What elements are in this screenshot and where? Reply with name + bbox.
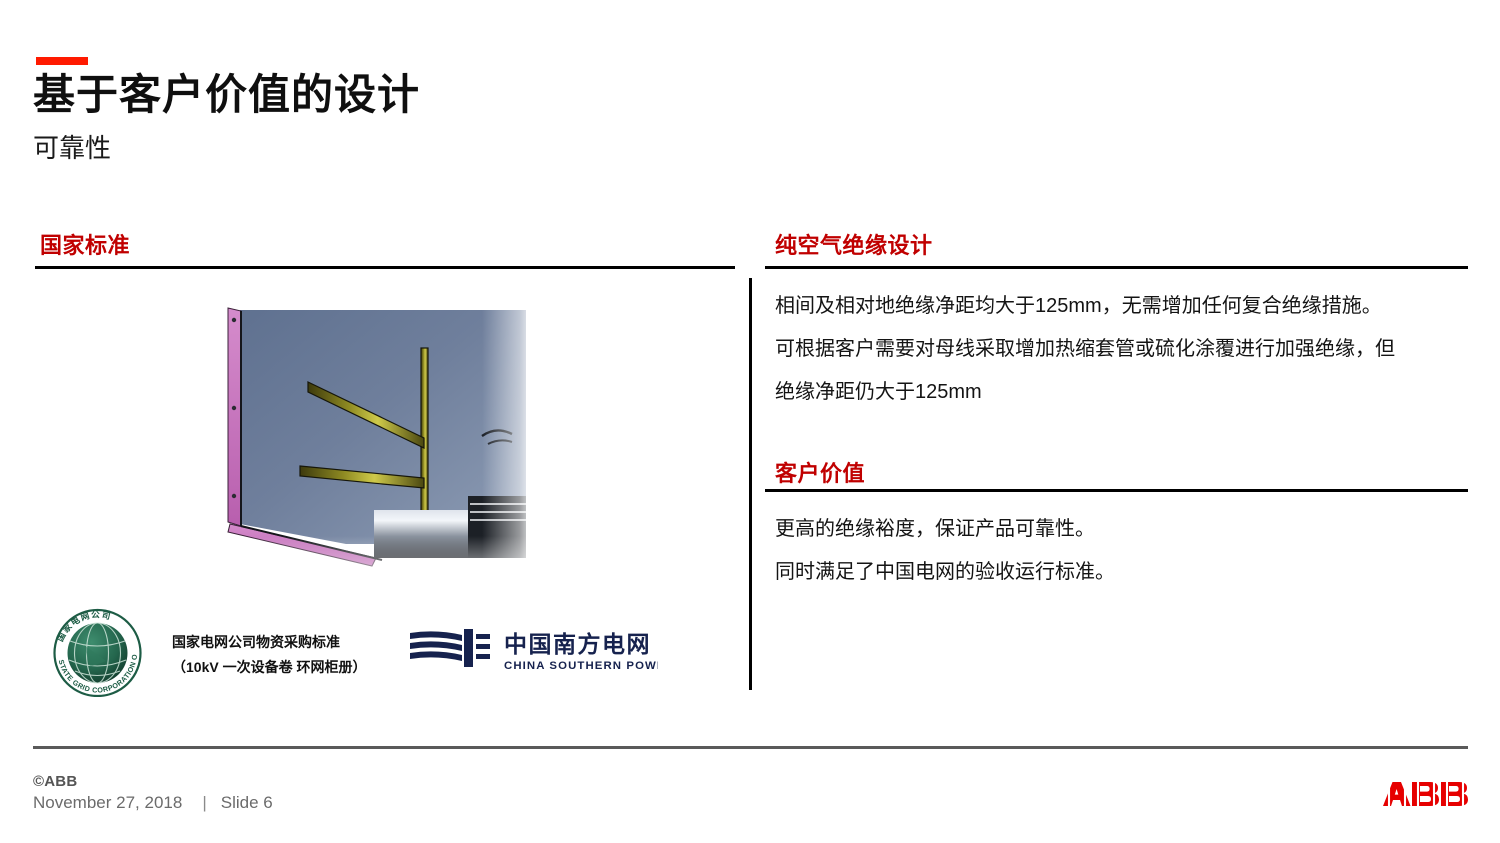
state-grid-logo: 国家电网公司 STATE GRID CORPORATION OF CHINA <box>50 605 145 697</box>
state-grid-caption: 国家电网公司物资采购标准 （10kV 一次设备卷 环网柜册） <box>172 630 366 680</box>
footer-slide-number: Slide 6 <box>221 793 273 812</box>
state-grid-caption-line-1: 国家电网公司物资采购标准 <box>172 630 366 655</box>
section-rule-left <box>35 266 735 269</box>
section-body-pure-air-insulation: 相间及相对地绝缘净距均大于125mm，无需增加任何复合绝缘措施。 可根据客户需要… <box>775 285 1475 414</box>
state-grid-caption-line-2: （10kV 一次设备卷 环网柜册） <box>172 655 366 680</box>
section-heading-national-standard: 国家标准 <box>40 228 130 260</box>
section-body-customer-value: 更高的绝缘裕度，保证产品可靠性。 同时满足了中国电网的验收运行标准。 <box>775 508 1475 594</box>
footer-copyright: ©ABB <box>33 773 77 790</box>
title-accent-bar <box>36 57 88 65</box>
body-paragraph: 同时满足了中国电网的验收运行标准。 <box>775 551 1475 594</box>
page-subtitle: 可靠性 <box>33 133 111 164</box>
body-paragraph: 相间及相对地绝缘净距均大于125mm，无需增加任何复合绝缘措施。 <box>775 285 1475 328</box>
footer-divider <box>33 746 1468 749</box>
section-rule-right-1 <box>765 266 1468 269</box>
column-divider <box>749 278 752 690</box>
slide-canvas: 基于客户价值的设计 可靠性 国家标准 <box>0 0 1500 843</box>
body-paragraph: 可根据客户需要对母线采取增加热缩套管或硫化涂覆进行加强绝缘，但 <box>775 328 1475 371</box>
abb-logo <box>1383 782 1468 806</box>
section-heading-pure-air-insulation: 纯空气绝缘设计 <box>775 228 933 260</box>
section-heading-customer-value: 客户价值 <box>775 456 865 488</box>
footer-date: November 27, 2018 <box>33 793 182 812</box>
china-southern-power-grid-logo: 中国南方电网 CHINA SOUTHERN POWER GRID <box>408 623 658 677</box>
switchgear-cad-render <box>196 278 536 578</box>
footer-meta: November 27, 2018|Slide 6 <box>33 793 273 813</box>
footer-separator: | <box>182 793 220 813</box>
page-title: 基于客户价值的设计 <box>33 72 420 118</box>
section-rule-right-2 <box>765 489 1468 492</box>
csg-text-en: CHINA SOUTHERN POWER GRID <box>504 660 658 672</box>
csg-text-cn: 中国南方电网 <box>504 631 651 657</box>
body-paragraph: 绝缘净距仍大于125mm <box>775 371 1475 414</box>
body-paragraph: 更高的绝缘裕度，保证产品可靠性。 <box>775 508 1475 551</box>
